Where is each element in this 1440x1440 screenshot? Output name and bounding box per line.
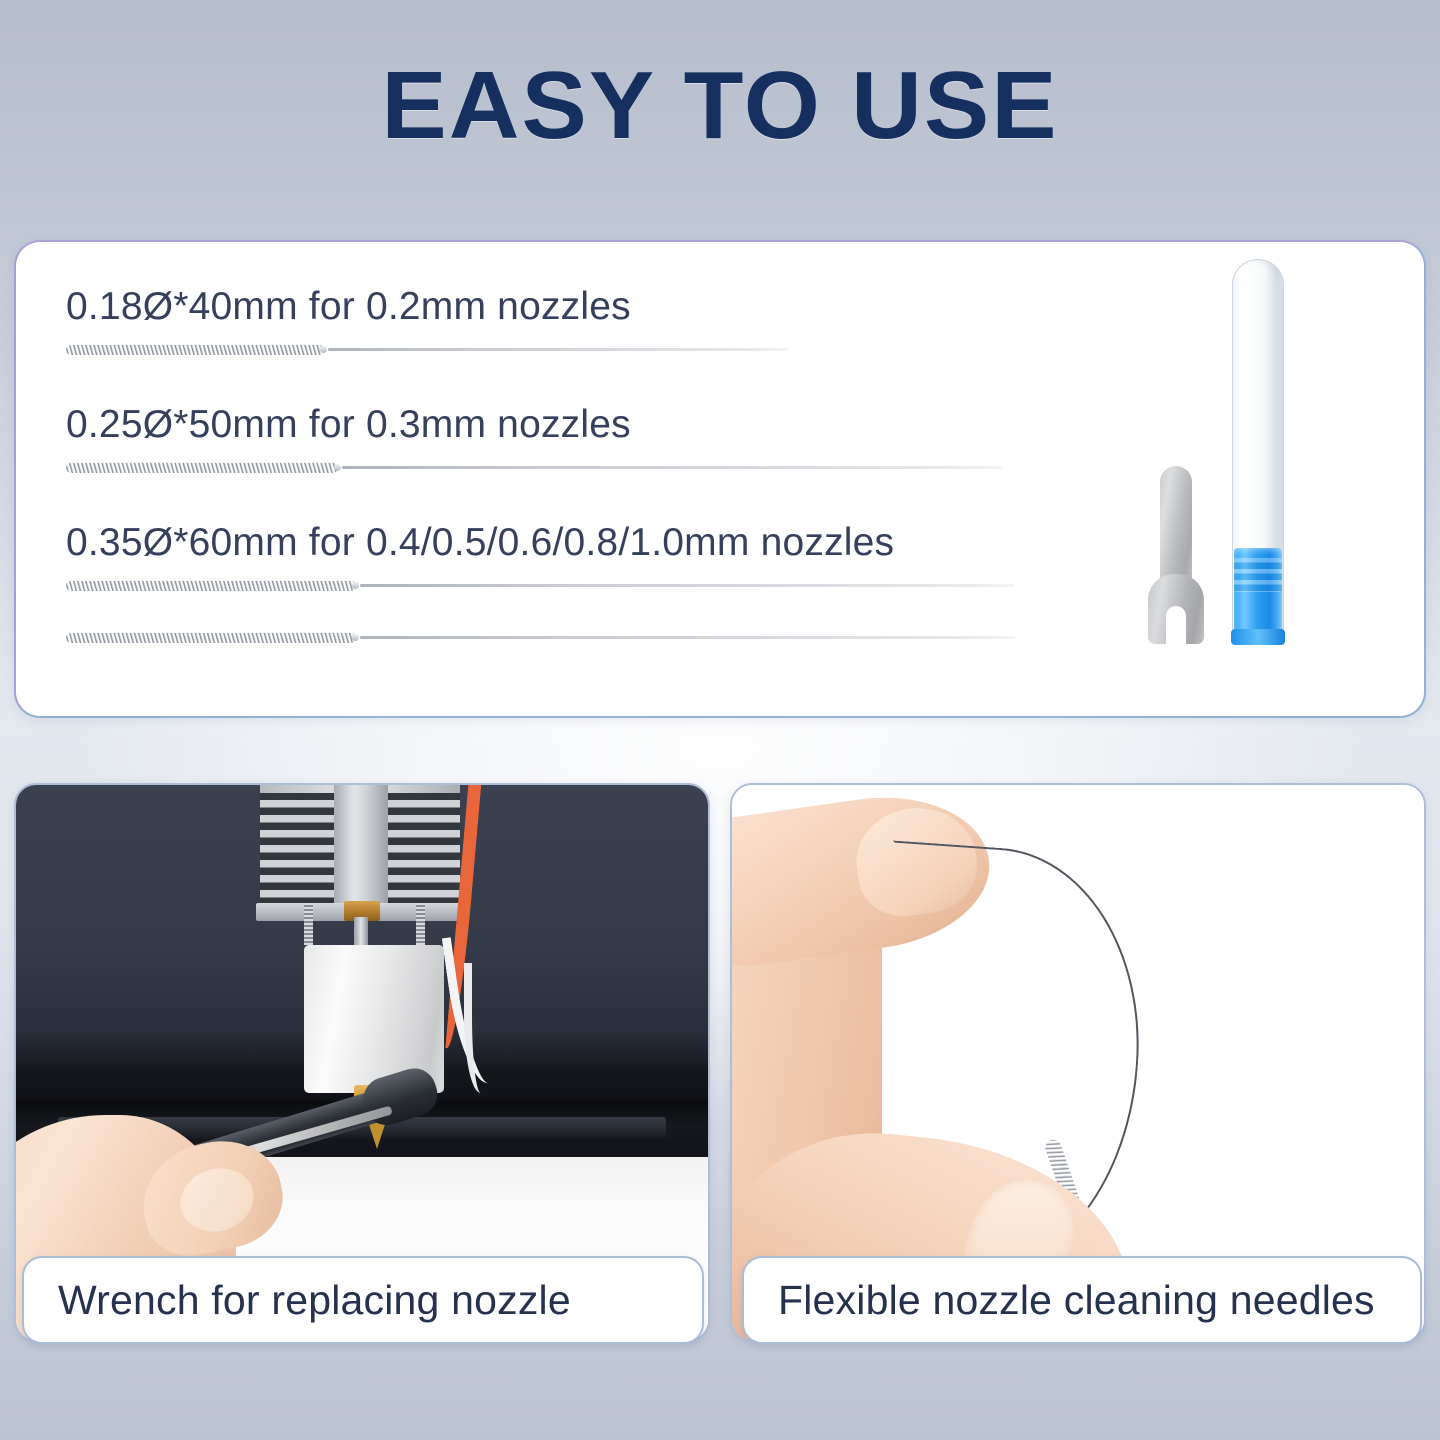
spec-row-3: 0.35Ø*60mm for 0.4/0.5/0.6/0.8/1.0mm noz… xyxy=(66,520,1066,646)
needle-coil-icon xyxy=(66,462,338,473)
tools-group xyxy=(1124,242,1424,718)
needle-wire-icon xyxy=(328,348,788,351)
wrench-icon xyxy=(1148,466,1204,644)
needle-illustration-3b xyxy=(66,628,1066,646)
spec-label-3: 0.35Ø*60mm for 0.4/0.5/0.6/0.8/1.0mm noz… xyxy=(66,520,1066,566)
mount-screw-left xyxy=(304,903,313,945)
caption-card-needles: Flexible nozzle cleaning needles xyxy=(742,1256,1422,1344)
heatsink-spine xyxy=(334,785,388,907)
tube-cap xyxy=(1234,548,1282,644)
needle-illustration-3a xyxy=(66,576,1066,594)
needle-illustration-2 xyxy=(66,458,1066,476)
needle-storage-tube-icon xyxy=(1232,259,1284,644)
spec-row-2: 0.25Ø*50mm for 0.3mm nozzles xyxy=(66,402,1066,476)
infographic-page: EASY TO USE 0.18Ø*40mm for 0.2mm nozzles… xyxy=(0,0,1440,1440)
needle-wire-icon xyxy=(342,466,1002,469)
needle-wire-icon xyxy=(360,584,1015,587)
caption-card-wrench: Wrench for replacing nozzle xyxy=(22,1256,704,1344)
page-title: EASY TO USE xyxy=(0,56,1440,157)
needle-illustration-1 xyxy=(66,340,1066,358)
needle-coil-icon xyxy=(66,344,324,355)
specification-card: 0.18Ø*40mm for 0.2mm nozzles 0.25Ø*50mm … xyxy=(14,240,1426,718)
mount-screw-right xyxy=(416,903,425,945)
needle-wire-icon xyxy=(360,636,1015,639)
caption-text-wrench: Wrench for replacing nozzle xyxy=(24,1277,571,1324)
specification-list: 0.18Ø*40mm for 0.2mm nozzles 0.25Ø*50mm … xyxy=(66,284,1066,646)
wrench-jaw xyxy=(1148,574,1204,644)
heatsink xyxy=(260,785,460,907)
caption-text-needles: Flexible nozzle cleaning needles xyxy=(744,1277,1375,1324)
needle-coil-icon xyxy=(66,580,356,591)
spec-label-1: 0.18Ø*40mm for 0.2mm nozzles xyxy=(66,284,1066,330)
spec-label-2: 0.25Ø*50mm for 0.3mm nozzles xyxy=(66,402,1066,448)
spec-row-1: 0.18Ø*40mm for 0.2mm nozzles xyxy=(66,284,1066,358)
needle-coil-icon xyxy=(66,632,356,643)
